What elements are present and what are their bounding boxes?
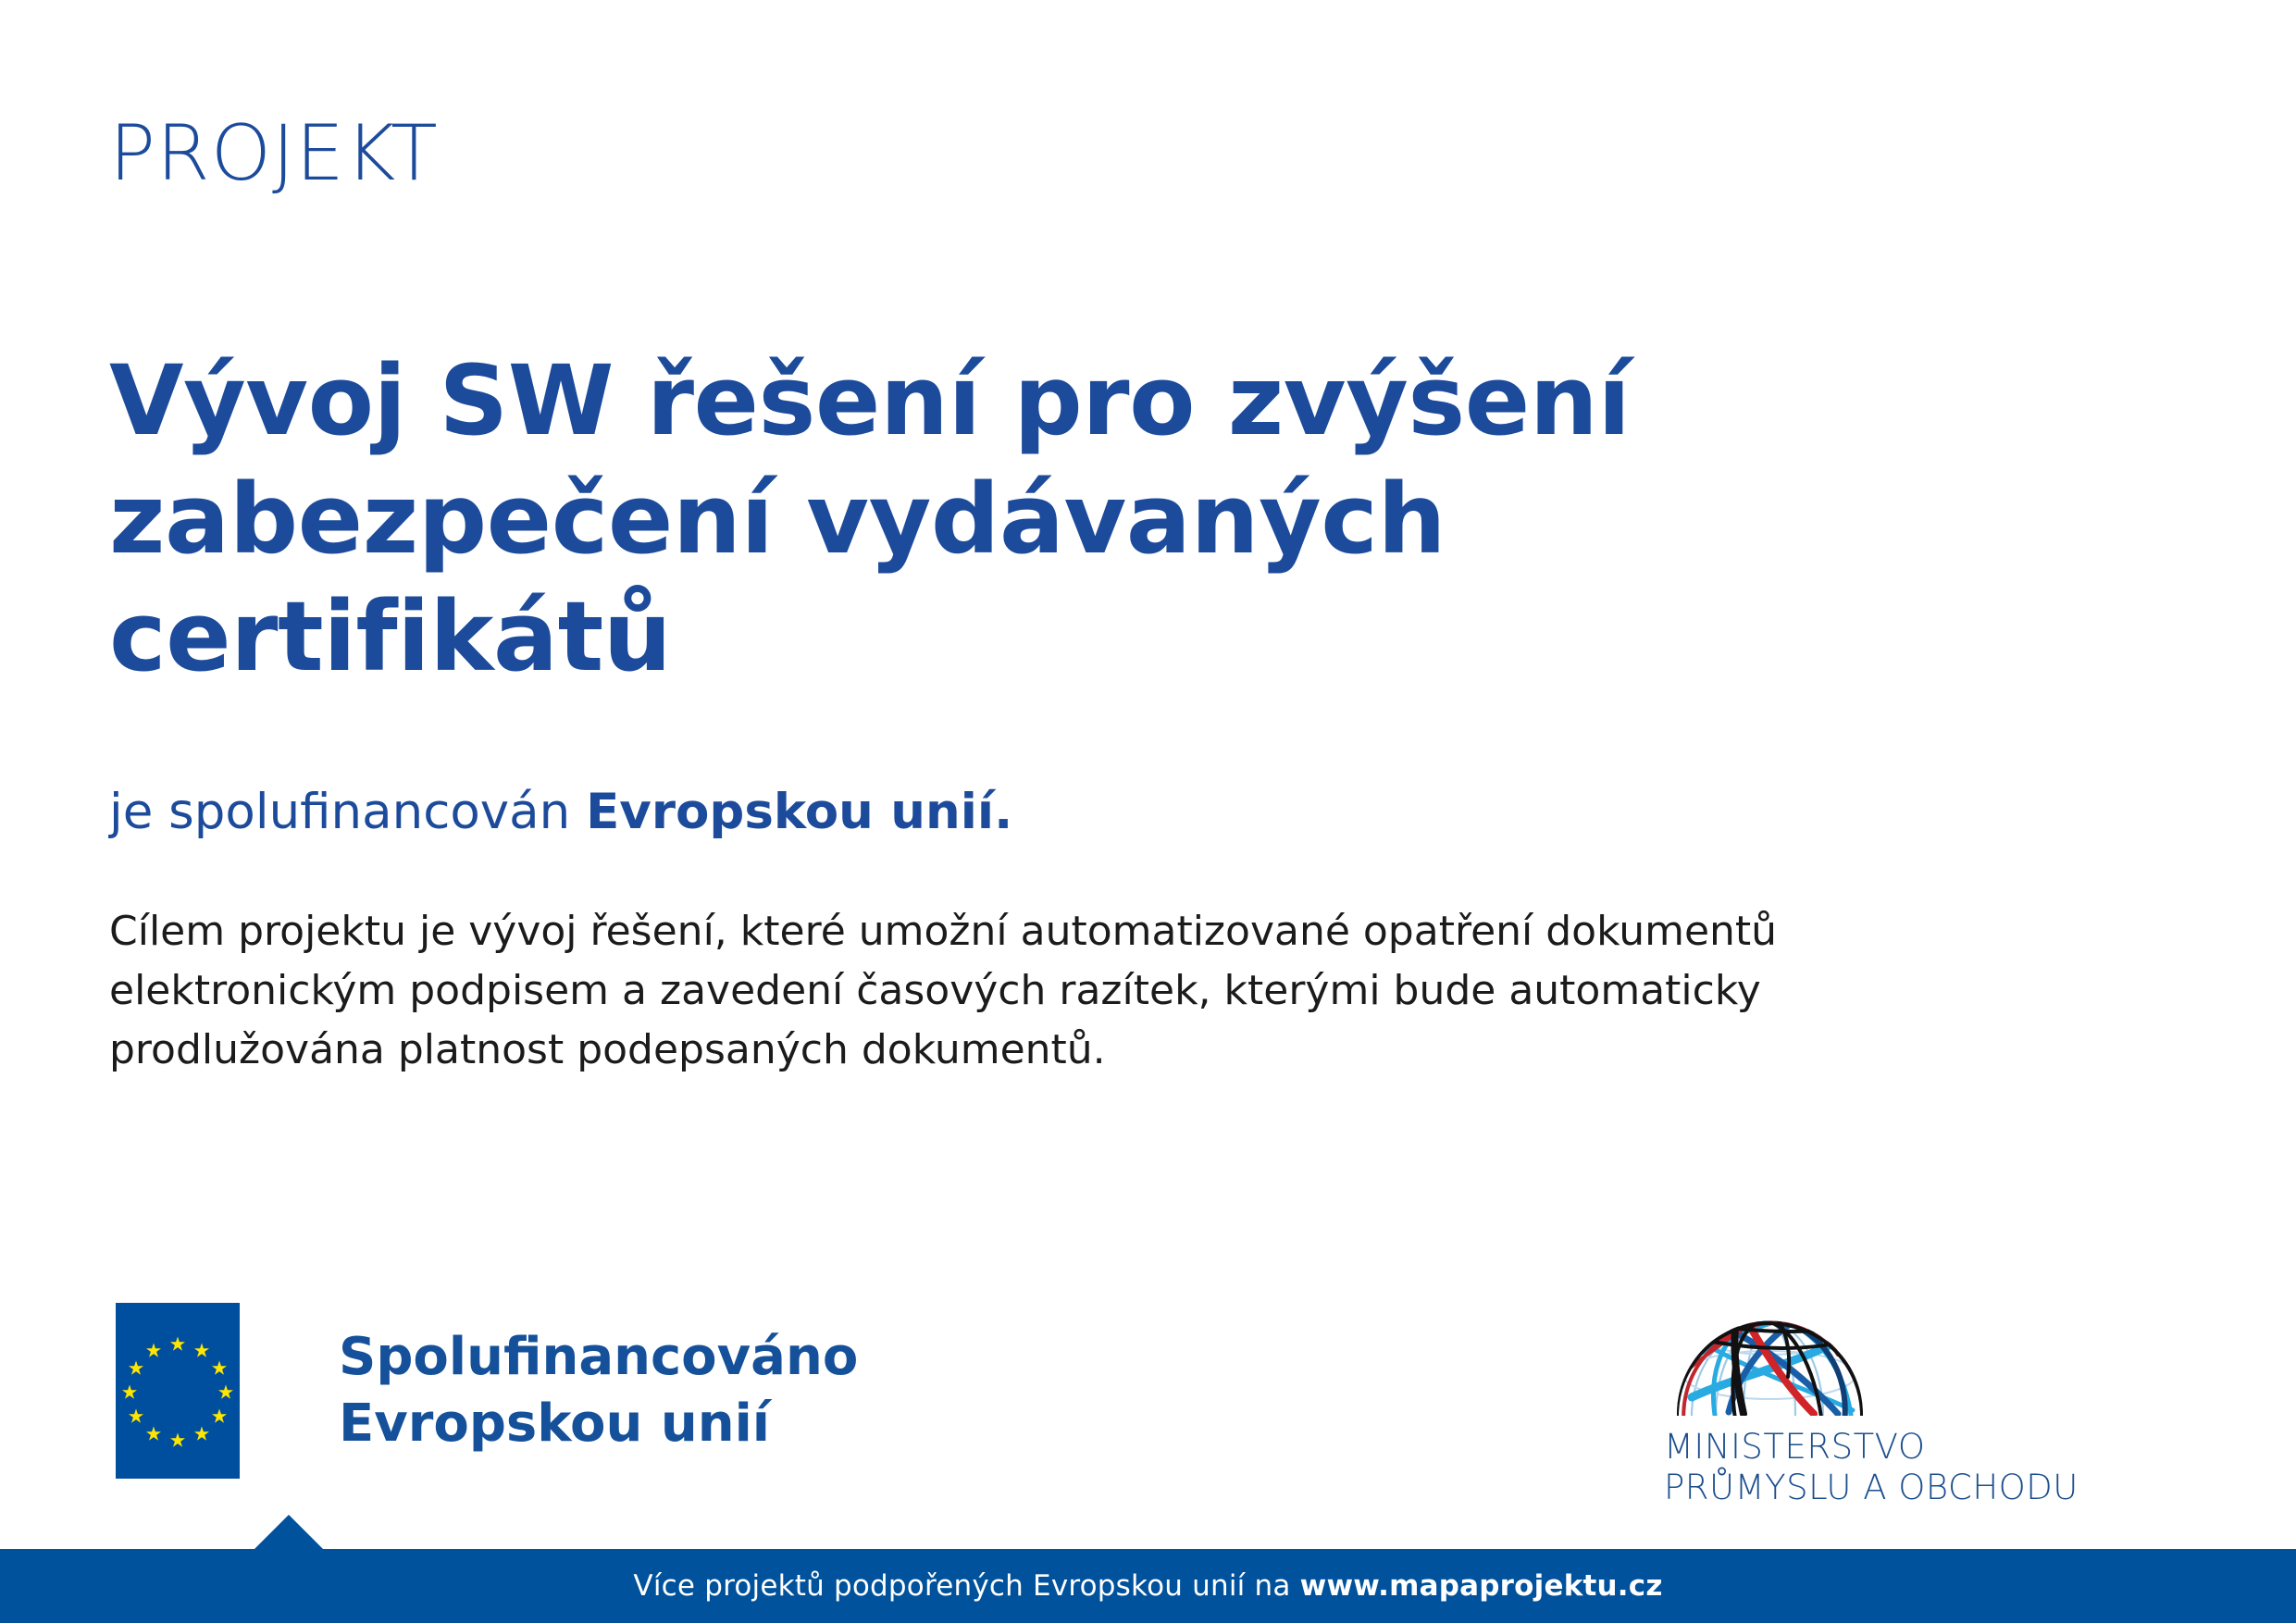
eu-cofunding-logo: Spolufinancováno Evropskou unií (116, 1303, 858, 1479)
footer-notch-triangle (254, 1515, 323, 1549)
footer-prefix: Více projektů podpořených Evropskou unií… (633, 1569, 1299, 1603)
footer-bar: Více projektů podpořených Evropskou unií… (0, 1549, 2296, 1623)
eu-cofunding-line-1: Spolufinancováno (339, 1324, 858, 1391)
mpo-globe-icon (1675, 1275, 1865, 1416)
ministry-logo-label: MINISTERSTVO PRŮMYSLU A OBCHODU (1664, 1427, 2071, 1509)
eu-cofunding-line-2: Evropskou unií (339, 1391, 858, 1457)
project-description: Cílem projektu je vývoj řešení, které um… (109, 902, 1928, 1079)
ministry-logo-line-1: MINISTERSTVO (1664, 1427, 2071, 1468)
ministry-logo-line-2: PRŮMYSLU A OBCHODU (1664, 1468, 2071, 1508)
poster-root: PROJEKT Vývoj SW řešení pro zvýšení zabe… (0, 0, 2296, 1623)
funding-subline: je spolufinancován Evropskou unií. (109, 782, 1012, 843)
funding-subline-regular: je spolufinancován (109, 784, 586, 840)
footer-url-link[interactable]: www.mapaprojektu.cz (1300, 1569, 1663, 1603)
eyebrow-label: PROJEKT (109, 115, 439, 192)
headline-line-1: Vývoj SW řešení pro zvýšení (109, 342, 1923, 461)
page-title: Vývoj SW řešení pro zvýšení zabezpečení … (109, 342, 1923, 698)
headline-line-3: certifikátů (109, 578, 1923, 697)
ministry-logo: MINISTERSTVO PRŮMYSLU A OBCHODU (1664, 1275, 2071, 1509)
footer-text: Více projektů podpořených Evropskou unií… (0, 1549, 2296, 1623)
eu-flag-icon (116, 1303, 240, 1479)
funding-subline-bold: Evropskou unií. (586, 784, 1012, 840)
project-description-text: Cílem projektu je vývoj řešení, které um… (109, 902, 1928, 1079)
eu-cofunding-label: Spolufinancováno Evropskou unií (339, 1324, 858, 1456)
headline-line-2: zabezpečení vydávaných (109, 461, 1923, 579)
